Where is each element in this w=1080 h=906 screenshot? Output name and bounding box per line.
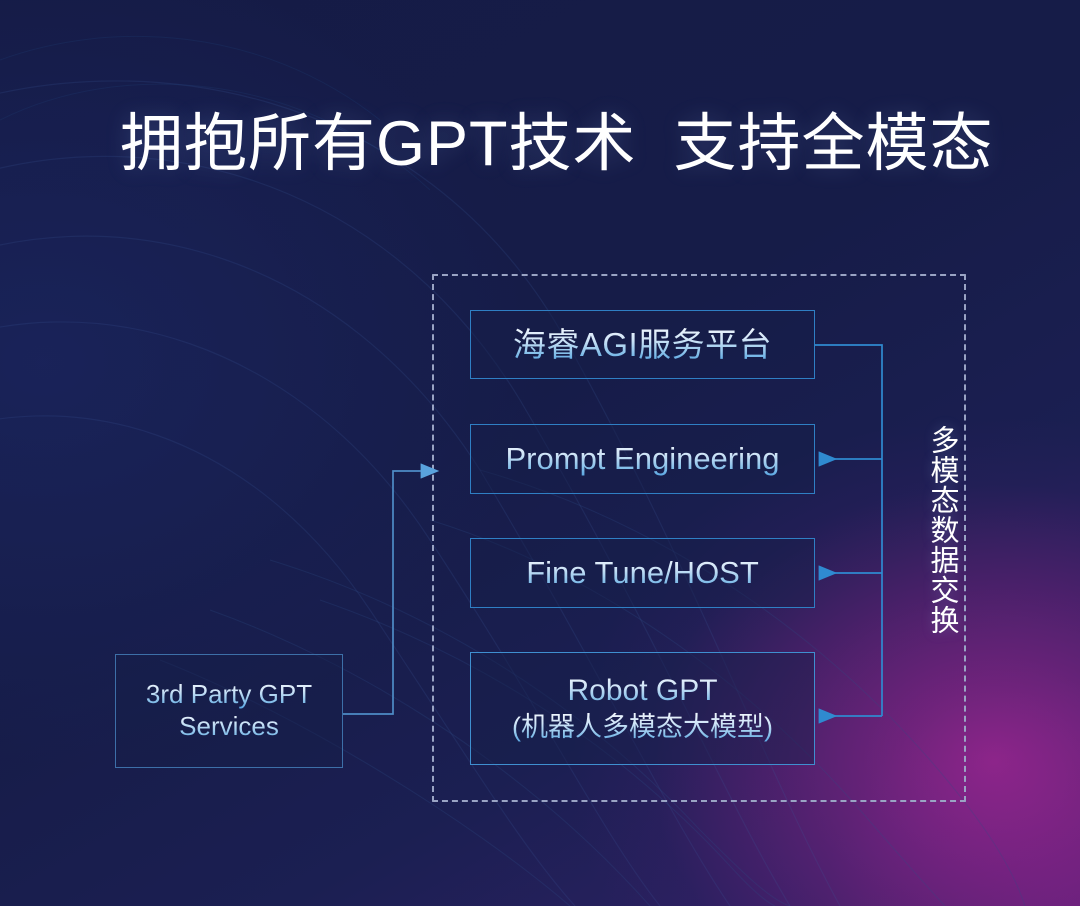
architecture-diagram: 海睿AGI服务平台 Prompt Engineering Fine Tune/H… [0,0,1080,906]
node-label-line1: 3rd Party GPT [146,679,312,710]
node-label-line1: Robot GPT [567,673,717,709]
node-robot-gpt[interactable]: Robot GPT (机器人多模态大模型) [470,652,815,765]
node-third-party-gpt-services[interactable]: 3rd Party GPT Services [115,654,343,768]
node-label-line1: Prompt Engineering [506,440,780,477]
node-agi-platform[interactable]: 海睿AGI服务平台 [470,310,815,379]
node-label-line1: Fine Tune/HOST [526,554,759,591]
node-prompt-engineering[interactable]: Prompt Engineering [470,424,815,494]
vertical-label-multimodal-data-exchange: 多模态数据交换 [917,425,957,635]
node-label-line2: Services [179,710,279,743]
node-label-line2: (机器人多模态大模型) [512,711,773,745]
node-label-line1: 海睿AGI服务平台 [513,325,772,365]
node-fine-tune-host[interactable]: Fine Tune/HOST [470,538,815,608]
